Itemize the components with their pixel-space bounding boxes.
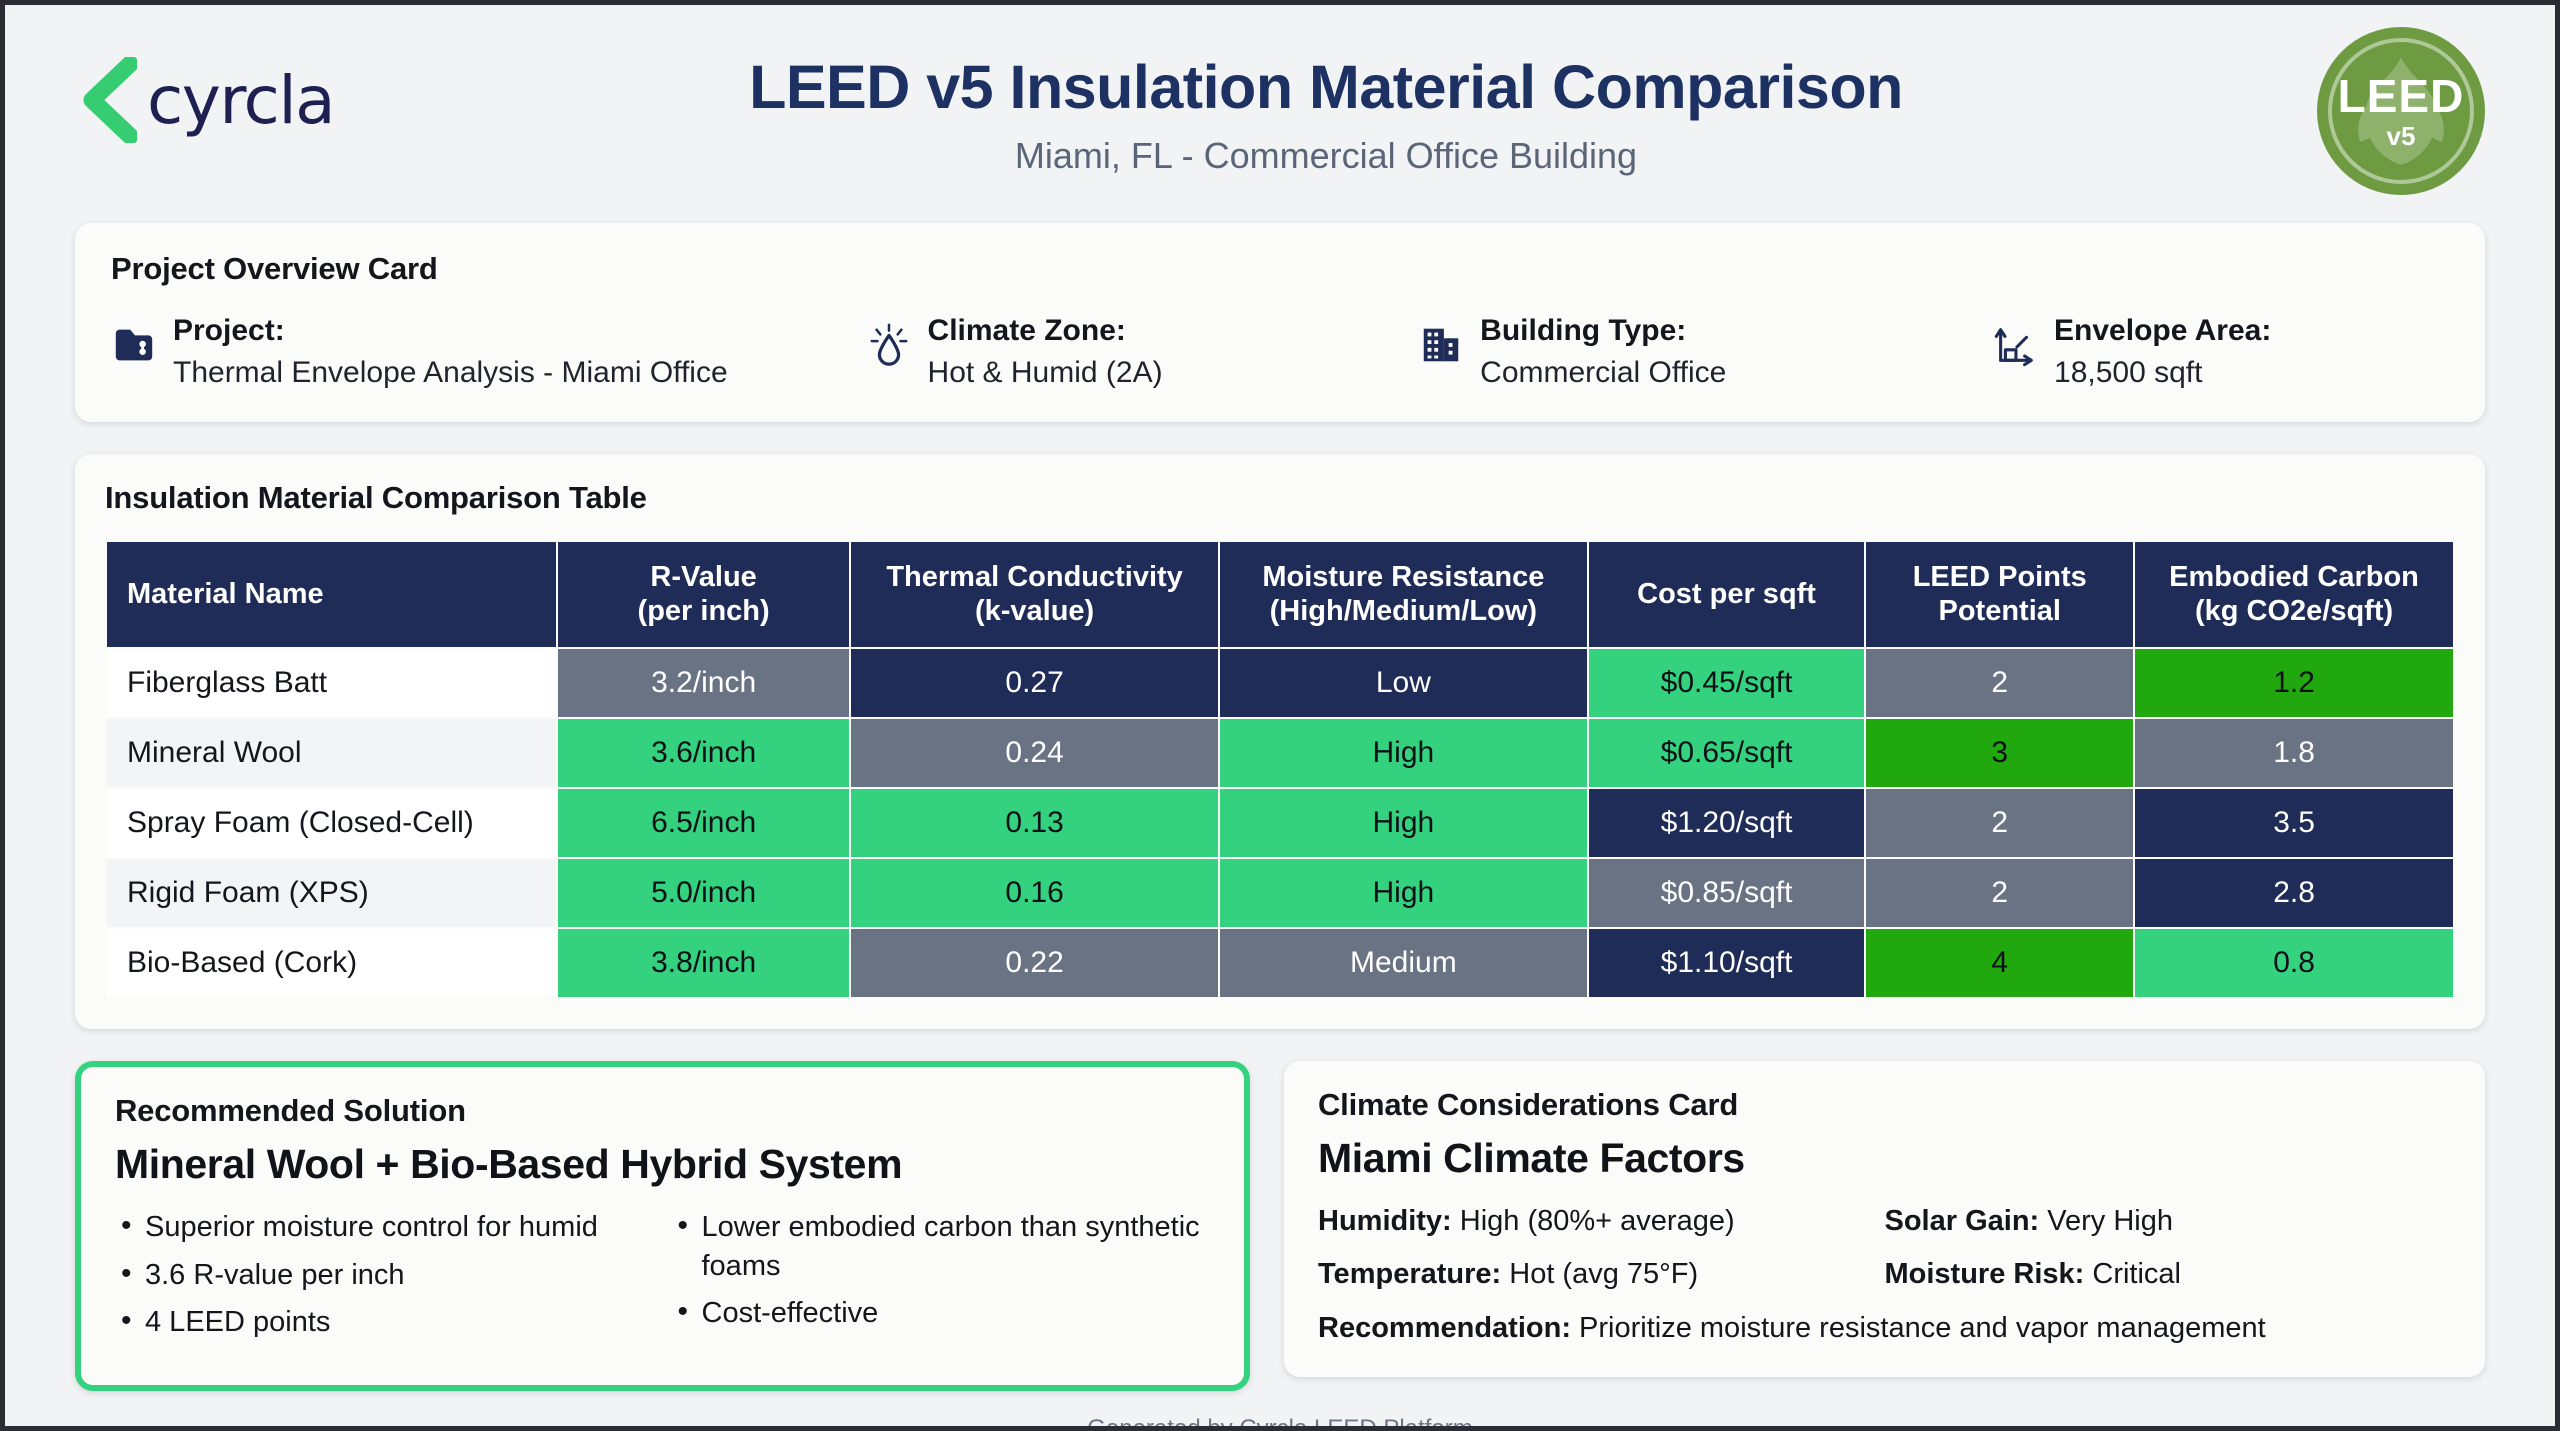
climate-factor-key: Moisture Risk: bbox=[1885, 1258, 2085, 1290]
climate-factor: Solar Gain: Very High bbox=[1885, 1202, 2452, 1241]
climate-factors-left: Humidity: High (80%+ average)Temperature… bbox=[1318, 1202, 1885, 1308]
table-cell: 4 bbox=[1866, 929, 2133, 997]
bottom-section: Recommended Solution Mineral Wool + Bio-… bbox=[75, 1061, 2485, 1391]
table-cell: 6.5/inch bbox=[558, 789, 849, 857]
recommended-bullets-right: Lower embodied carbon than synthetic foa… bbox=[672, 1208, 1211, 1351]
folder-icon bbox=[111, 322, 157, 368]
page-header: cyrcla LEED v5 Insulation Material Compa… bbox=[5, 5, 2555, 223]
table-card-label: Insulation Material Comparison Table bbox=[105, 480, 2455, 516]
climate-recommendation-key: Recommendation: bbox=[1318, 1312, 1571, 1344]
badge-version-label: v5 bbox=[2387, 123, 2416, 149]
header-line: Cost per sqft bbox=[1597, 577, 1857, 612]
climate-title: Miami Climate Factors bbox=[1318, 1135, 2451, 1182]
overview-key: Envelope Area: bbox=[2054, 313, 2271, 350]
overview-items: Project: Thermal Envelope Analysis - Mia… bbox=[111, 313, 2449, 392]
list-item: Lower embodied carbon than synthetic foa… bbox=[672, 1208, 1211, 1285]
report-page: cyrcla LEED v5 Insulation Material Compa… bbox=[0, 0, 2560, 1431]
table-row: Mineral Wool3.6/inch0.24High$0.65/sqft31… bbox=[107, 719, 2453, 787]
table-cell: $1.20/sqft bbox=[1589, 789, 1865, 857]
list-item: 4 LEED points bbox=[115, 1303, 654, 1342]
header-line: (kg CO2e/sqft) bbox=[2143, 594, 2445, 629]
table-cell: 2.8 bbox=[2135, 859, 2453, 927]
overview-item-building-type: Building Type: Commercial Office bbox=[1418, 313, 1992, 392]
climate-factor-value: Critical bbox=[2084, 1258, 2181, 1290]
table-cell: Medium bbox=[1220, 929, 1587, 997]
page-title: LEED v5 Insulation Material Comparison bbox=[335, 55, 2317, 121]
overview-value: Thermal Envelope Analysis - Miami Office bbox=[173, 353, 728, 392]
list-item: Superior moisture control for humid bbox=[115, 1208, 654, 1247]
climate-factor-value: High (80%+ average) bbox=[1452, 1205, 1735, 1237]
list-item: 3.6 R-value per inch bbox=[115, 1256, 654, 1295]
table-column-header: R-Value(per inch) bbox=[558, 542, 849, 648]
header-line: R-Value bbox=[566, 560, 841, 595]
climate-factors: Humidity: High (80%+ average)Temperature… bbox=[1318, 1202, 2451, 1308]
climate-factor: Temperature: Hot (avg 75°F) bbox=[1318, 1255, 1885, 1294]
recommended-card-label: Recommended Solution bbox=[115, 1093, 1210, 1129]
table-cell: 1.2 bbox=[2135, 649, 2453, 717]
humidity-icon bbox=[866, 322, 912, 368]
material-name-cell: Fiberglass Batt bbox=[107, 649, 556, 717]
table-cell: 3.8/inch bbox=[558, 929, 849, 997]
badge-leed-label: LEED bbox=[2338, 73, 2465, 119]
insulation-comparison-table: Material NameR-Value(per inch)Thermal Co… bbox=[105, 540, 2455, 1000]
table-cell: 3 bbox=[1866, 719, 2133, 787]
overview-item-envelope-area: Envelope Area: 18,500 sqft bbox=[1992, 313, 2449, 392]
table-cell: $0.65/sqft bbox=[1589, 719, 1865, 787]
header-line: (k-value) bbox=[859, 594, 1210, 629]
table-cell: 0.8 bbox=[2135, 929, 2453, 997]
table-cell: 1.8 bbox=[2135, 719, 2453, 787]
table-cell: High bbox=[1220, 789, 1587, 857]
table-header: Material NameR-Value(per inch)Thermal Co… bbox=[107, 542, 2453, 648]
table-cell: 3.6/inch bbox=[558, 719, 849, 787]
recommended-title: Mineral Wool + Bio-Based Hybrid System bbox=[115, 1141, 1210, 1188]
overview-key: Building Type: bbox=[1480, 313, 1726, 350]
badge-text: LEED v5 bbox=[2317, 27, 2485, 195]
climate-considerations-card: Climate Considerations Card Miami Climat… bbox=[1284, 1061, 2485, 1377]
header-line: (High/Medium/Low) bbox=[1228, 594, 1579, 629]
climate-factor-key: Temperature: bbox=[1318, 1258, 1501, 1290]
header-line: Thermal Conductivity bbox=[859, 560, 1210, 595]
table-cell: 2 bbox=[1866, 649, 2133, 717]
table-row: Fiberglass Batt3.2/inch0.27Low$0.45/sqft… bbox=[107, 649, 2453, 717]
table-cell: High bbox=[1220, 719, 1587, 787]
title-block: LEED v5 Insulation Material Comparison M… bbox=[335, 55, 2317, 177]
recommended-bullets-left: Superior moisture control for humid3.6 R… bbox=[115, 1208, 654, 1351]
table-cell: 0.13 bbox=[851, 789, 1218, 857]
table-column-header: Material Name bbox=[107, 542, 556, 648]
climate-factor: Humidity: High (80%+ average) bbox=[1318, 1202, 1885, 1241]
climate-factor-value: Very High bbox=[2039, 1205, 2173, 1237]
recommended-solution-card: Recommended Solution Mineral Wool + Bio-… bbox=[75, 1061, 1250, 1391]
table-cell: $1.10/sqft bbox=[1589, 929, 1865, 997]
table-cell: 0.27 bbox=[851, 649, 1218, 717]
material-name-cell: Bio-Based (Cork) bbox=[107, 929, 556, 997]
overview-value: 18,500 sqft bbox=[2054, 353, 2271, 392]
table-column-header: LEED PointsPotential bbox=[1866, 542, 2133, 648]
climate-factor-key: Solar Gain: bbox=[1885, 1205, 2040, 1237]
overview-item-project: Project: Thermal Envelope Analysis - Mia… bbox=[111, 313, 866, 392]
chevron-left-icon bbox=[75, 57, 137, 143]
material-name-cell: Rigid Foam (XPS) bbox=[107, 859, 556, 927]
header-line: Moisture Resistance bbox=[1228, 560, 1579, 595]
table-cell: High bbox=[1220, 859, 1587, 927]
table-column-header: Moisture Resistance(High/Medium/Low) bbox=[1220, 542, 1587, 648]
header-line: LEED Points bbox=[1874, 560, 2125, 595]
climate-card-label: Climate Considerations Card bbox=[1318, 1087, 2451, 1123]
table-row: Spray Foam (Closed-Cell)6.5/inch0.13High… bbox=[107, 789, 2453, 857]
header-line: (per inch) bbox=[566, 594, 841, 629]
leed-badge: LEED v5 bbox=[2317, 27, 2485, 195]
page-footer: Generated by Cyrcla LEED Platform bbox=[5, 1415, 2555, 1431]
table-cell: $0.85/sqft bbox=[1589, 859, 1865, 927]
table-cell: 2 bbox=[1866, 859, 2133, 927]
table-cell: 3.5 bbox=[2135, 789, 2453, 857]
header-line: Material Name bbox=[127, 577, 548, 612]
climate-factor: Moisture Risk: Critical bbox=[1885, 1255, 2452, 1294]
overview-card-label: Project Overview Card bbox=[111, 251, 2449, 287]
table-row: Bio-Based (Cork)3.8/inch0.22Medium$1.10/… bbox=[107, 929, 2453, 997]
table-row: Rigid Foam (XPS)5.0/inch0.16High$0.85/sq… bbox=[107, 859, 2453, 927]
overview-value: Hot & Humid (2A) bbox=[928, 353, 1163, 392]
overview-value: Commercial Office bbox=[1480, 353, 1726, 392]
area-icon bbox=[1992, 322, 2038, 368]
header-line: Embodied Carbon bbox=[2143, 560, 2445, 595]
table-column-header: Embodied Carbon(kg CO2e/sqft) bbox=[2135, 542, 2453, 648]
table-body: Fiberglass Batt3.2/inch0.27Low$0.45/sqft… bbox=[107, 649, 2453, 997]
table-header-row: Material NameR-Value(per inch)Thermal Co… bbox=[107, 542, 2453, 648]
table-column-header: Thermal Conductivity(k-value) bbox=[851, 542, 1218, 648]
comparison-table-card: Insulation Material Comparison Table Mat… bbox=[75, 454, 2485, 1030]
climate-factor-key: Humidity: bbox=[1318, 1205, 1452, 1237]
overview-item-climate-zone: Climate Zone: Hot & Humid (2A) bbox=[866, 313, 1419, 392]
page-subtitle: Miami, FL - Commercial Office Building bbox=[335, 135, 2317, 177]
climate-factor-value: Hot (avg 75°F) bbox=[1501, 1258, 1698, 1290]
climate-recommendation-value: Prioritize moisture resistance and vapor… bbox=[1579, 1312, 2266, 1344]
list-item: Cost-effective bbox=[672, 1294, 1211, 1333]
overview-key: Climate Zone: bbox=[928, 313, 1163, 350]
material-name-cell: Mineral Wool bbox=[107, 719, 556, 787]
table-column-header: Cost per sqft bbox=[1589, 542, 1865, 648]
table-cell: 0.22 bbox=[851, 929, 1218, 997]
table-cell: 5.0/inch bbox=[558, 859, 849, 927]
brand-name: cyrcla bbox=[147, 62, 334, 139]
building-icon bbox=[1418, 322, 1464, 368]
overview-key: Project: bbox=[173, 313, 728, 350]
recommended-bullets: Superior moisture control for humid3.6 R… bbox=[115, 1208, 1210, 1351]
table-cell: Low bbox=[1220, 649, 1587, 717]
table-cell: 0.16 bbox=[851, 859, 1218, 927]
project-overview-card: Project Overview Card Project: Thermal E… bbox=[75, 223, 2485, 422]
header-line: Potential bbox=[1874, 594, 2125, 629]
table-cell: 0.24 bbox=[851, 719, 1218, 787]
climate-recommendation: Recommendation: Prioritize moisture resi… bbox=[1318, 1312, 2451, 1345]
climate-factors-right: Solar Gain: Very HighMoisture Risk: Crit… bbox=[1885, 1202, 2452, 1308]
material-name-cell: Spray Foam (Closed-Cell) bbox=[107, 789, 556, 857]
table-cell: 2 bbox=[1866, 789, 2133, 857]
table-cell: $0.45/sqft bbox=[1589, 649, 1865, 717]
table-cell: 3.2/inch bbox=[558, 649, 849, 717]
